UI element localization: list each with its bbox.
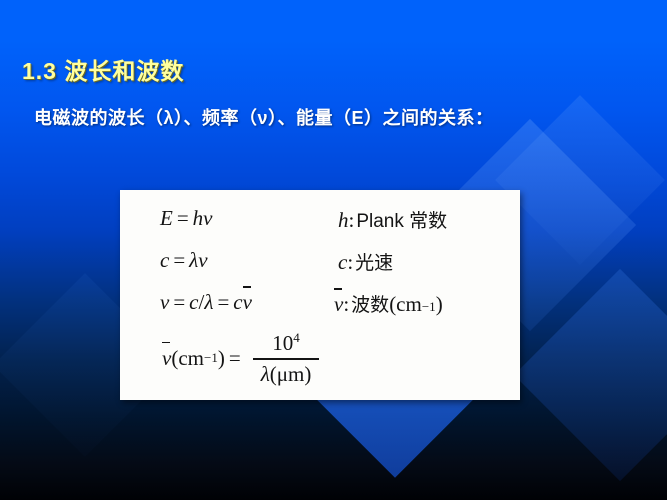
fraction-equals: = [225,346,245,371]
fraction-numerator-base: 10 [272,331,293,355]
fraction-numerator: 104 [264,330,308,358]
formula-rhs-nubar: ν [243,290,252,315]
fraction-denominator-unit: (μm) [270,362,312,386]
slide-title: 1.3 波长和波数 [22,52,184,86]
fraction-denominator-var: λ [261,362,270,386]
fraction-lhs-unit-close: ) [218,346,225,371]
formula-def-plank: h : Plank 常数 [338,206,447,233]
formula-lhs-E: E [160,206,173,231]
formula-def-var-c: c [338,250,347,275]
formula-panel: E = hν h : Plank 常数 c = λν c : 光速 ν = c … [120,190,520,400]
formula-row-energy: E = hν [160,206,350,231]
formula-lhs-c: c [160,248,169,273]
fraction-lhs-nubar: ν [162,346,171,371]
formula-equals-2: = [169,248,189,273]
fraction-lhs-unit-open: (cm [171,346,204,371]
formula-def-wavenumber: ν : 波数 (cm −1 ) [334,290,443,317]
formula-rhs-c: c [189,290,198,315]
formula-equals-3: = [169,290,189,315]
formula-equals-4: = [213,290,233,315]
formula-def-unit-close: ) [436,292,443,317]
formula-equals: = [173,206,193,231]
formula-def-text-wavenumber: 波数 [349,290,389,317]
formula-row-speed: c = λν [160,248,350,273]
background-diamond-upper-right-secondary [495,95,665,265]
formula-rhs-lambdanu: λν [189,248,207,273]
formula-def-text-lightspeed: 光速 [353,248,393,275]
formula-rhs-hnu: hν [193,206,213,231]
formula-def-var-h: h [338,208,349,233]
formula-row-wavenumber-fraction: ν (cm −1 ) = 104 λ(μm) [162,330,319,387]
background-diamond-lower-right [514,269,667,481]
formula-rhs-lambda: λ [204,290,213,315]
formula-def-unit-exponent: −1 [422,299,436,315]
formula-def-unit-open: (cm [389,292,422,317]
slide-subtitle: 电磁波的波长（λ）、频率（ν）、能量（E）之间的关系： [34,104,494,130]
formula-def-var-nubar: ν [334,292,343,317]
formula-row-frequency: ν = c / λ = c ν [160,290,350,315]
formula-def-lightspeed: c : 光速 [338,248,393,275]
fraction-group: 104 λ(μm) [253,330,320,387]
fraction-numerator-exponent: 4 [293,330,300,345]
formula-lhs-nu: ν [160,290,169,315]
formula-def-text-plank: Plank 常数 [354,206,447,233]
fraction-lhs-unit-exponent: −1 [204,350,218,366]
formula-rhs-c2: c [233,290,242,315]
fraction-denominator: λ(μm) [253,360,320,387]
slide-canvas: 1.3 波长和波数 电磁波的波长（λ）、频率（ν）、能量（E）之间的关系： E … [0,0,667,500]
